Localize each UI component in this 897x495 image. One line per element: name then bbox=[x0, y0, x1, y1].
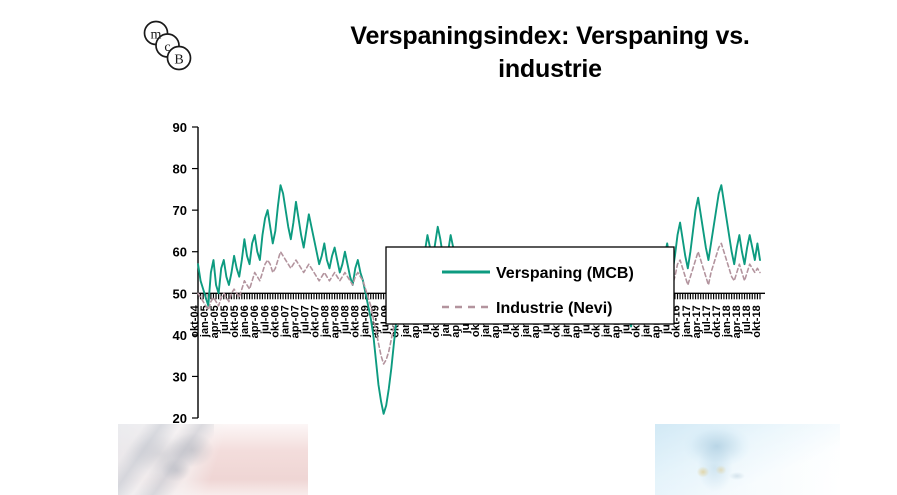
y-tick-label: 50 bbox=[173, 286, 187, 301]
mcb-logo-icon: m c B bbox=[140, 18, 200, 76]
logo-letter-m: m bbox=[151, 28, 162, 43]
slide-canvas: m c B Verspaningsindex: Verspaning vs. i… bbox=[0, 0, 897, 495]
y-tick-label: 40 bbox=[173, 328, 187, 343]
page-title-line2: industrie bbox=[240, 53, 860, 86]
chart-container: 2030405060708090 okt-04jan-05apr-05jul-0… bbox=[0, 100, 897, 440]
y-axis: 2030405060708090 bbox=[173, 120, 198, 426]
page-title: Verspaningsindex: Verspaning vs. industr… bbox=[240, 20, 860, 87]
chart-legend[interactable]: Verspaning (MCB)Industrie (Nevi) bbox=[386, 247, 674, 324]
x-tick-label: okt-18 bbox=[751, 305, 763, 337]
y-tick-label: 20 bbox=[173, 411, 187, 426]
logo-letter-b: B bbox=[174, 53, 183, 68]
legend-label-verspaning: Verspaning (MCB) bbox=[496, 265, 634, 282]
y-tick-label: 60 bbox=[173, 245, 187, 260]
page-title-line1: Verspaningsindex: Verspaning vs. bbox=[240, 20, 860, 53]
y-tick-label: 70 bbox=[173, 203, 187, 218]
legend-label-industrie: Industrie (Nevi) bbox=[496, 300, 612, 317]
y-tick-label: 30 bbox=[173, 369, 187, 384]
mcb-logo: m c B bbox=[140, 18, 200, 76]
line-chart: 2030405060708090 okt-04jan-05apr-05jul-0… bbox=[0, 100, 897, 440]
y-tick-label: 80 bbox=[173, 162, 187, 177]
logo-letter-c: c bbox=[164, 40, 170, 55]
y-tick-label: 90 bbox=[173, 120, 187, 135]
